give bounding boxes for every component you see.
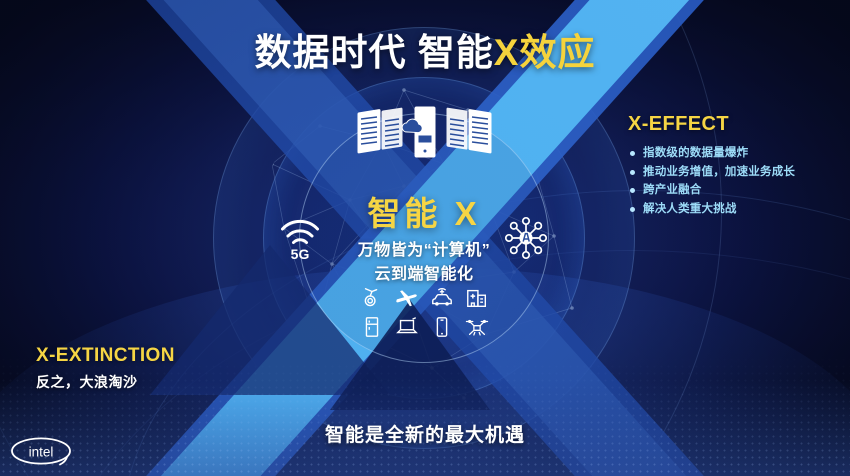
page-title-accent: X效应: [494, 32, 596, 73]
center-subline-1: 万物皆为“计算机”: [274, 239, 574, 263]
bullet-text: 推动业务增值，加速业务成长: [643, 163, 795, 182]
robotic-arm-icon: [359, 286, 385, 310]
device-icon-row-1: [351, 286, 497, 310]
bullet-dot-icon: [630, 151, 635, 156]
center-headline: 智能 X: [274, 195, 574, 234]
appliance-icon: [359, 315, 385, 339]
x-effect-bullet-list: 指数级的数据量爆炸 推动业务增值，加速业务成长 跨产业融合 解决人类重大挑战: [628, 144, 846, 219]
x-extinction-subtext: 反之，大浪淘沙: [36, 372, 266, 392]
bullet-dot-icon: [630, 170, 635, 175]
device-icon-row-2: [351, 315, 497, 339]
hospital-icon: [464, 286, 490, 310]
svg-text:intel: intel: [29, 445, 54, 460]
bullet-text: 指数级的数据量爆炸: [643, 144, 748, 163]
page-title-main: 数据时代 智能: [255, 32, 494, 73]
datacenter-cloud-icon: [352, 105, 497, 160]
center-subline-2: 云到端智能化: [274, 263, 574, 287]
airplane-icon: [394, 286, 420, 310]
device-icon-grid: [351, 286, 497, 344]
bottom-tagline: 智能是全新的最大机遇: [0, 420, 850, 447]
x-extinction-panel: X-EXTINCTION 反之，大浪淘沙: [36, 345, 266, 392]
x-effect-heading: X-EFFECT: [628, 113, 846, 136]
slide-canvas: 数据时代 智能X效应: [0, 0, 850, 476]
x-extinction-heading: X-EXTINCTION: [36, 345, 266, 367]
list-item: 解决人类重大挑战: [628, 200, 846, 219]
bullet-text: 解决人类重大挑战: [643, 200, 737, 219]
bullet-dot-icon: [630, 188, 635, 193]
laptop-icon: [394, 315, 420, 339]
smartphone-icon: [429, 315, 455, 339]
bullet-text: 跨产业融合: [643, 181, 702, 200]
list-item: 推动业务增值，加速业务成长: [628, 163, 846, 182]
connected-car-icon: [429, 286, 455, 310]
drone-icon: [464, 315, 490, 339]
intel-logo: intel: [10, 436, 72, 466]
list-item: 指数级的数据量爆炸: [628, 144, 846, 163]
bullet-dot-icon: [630, 207, 635, 212]
center-message: 智能 X 万物皆为“计算机” 云到端智能化: [274, 195, 574, 287]
list-item: 跨产业融合: [628, 181, 846, 200]
x-effect-panel: X-EFFECT 指数级的数据量爆炸 推动业务增值，加速业务成长 跨产业融合 解…: [628, 113, 846, 219]
page-title: 数据时代 智能X效应: [0, 22, 850, 76]
